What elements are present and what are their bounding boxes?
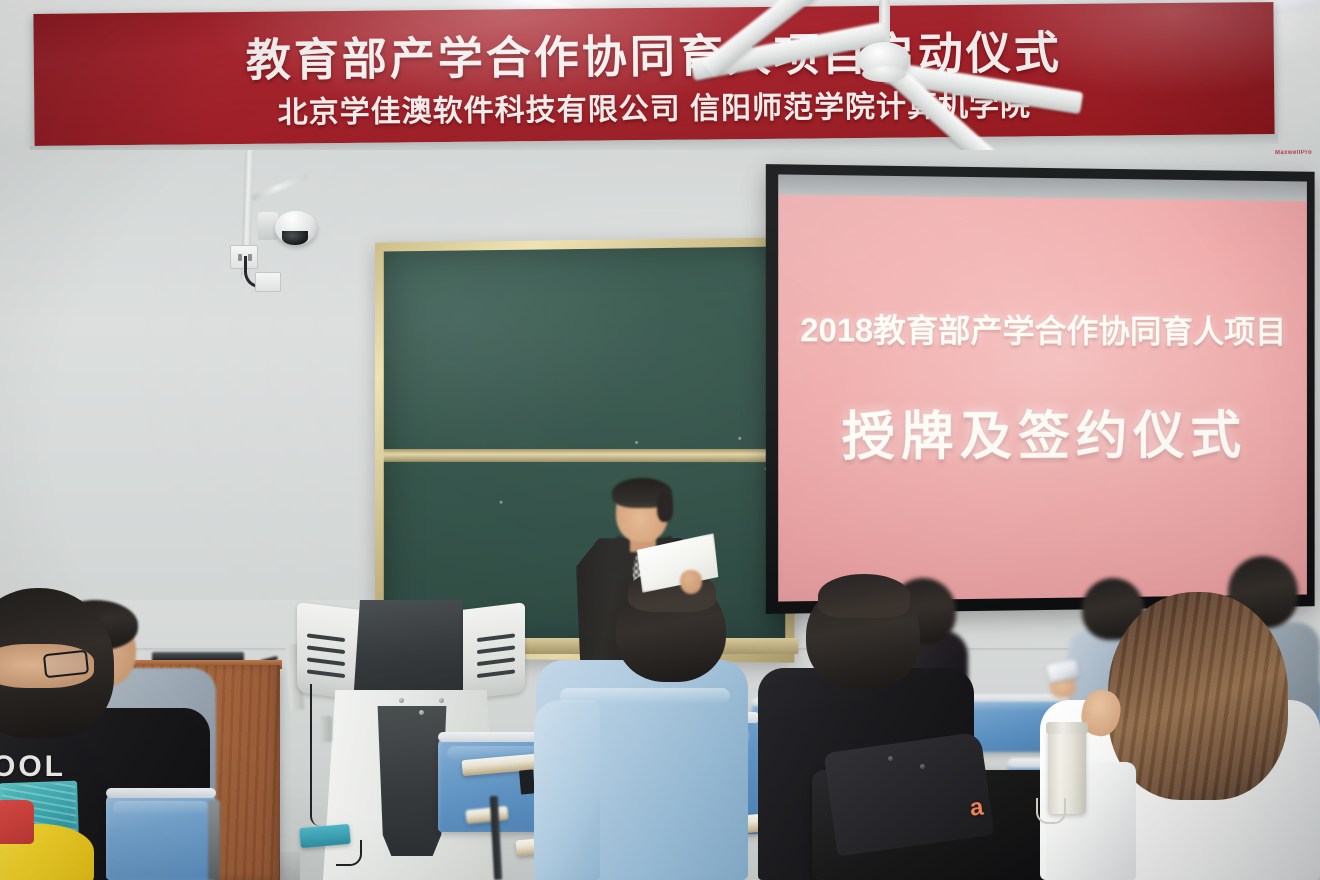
projection-screen: 2018教育部产学合作协同育人项目 授牌及签约仪式 [766, 164, 1315, 614]
seat-foreground-left-edge [106, 788, 216, 798]
wall-switch-icon[interactable] [255, 272, 281, 292]
student-black-jacket-hair-top [818, 574, 910, 618]
student-blue-denim-yoke [560, 688, 730, 704]
photo-scene: 教育部产学合作协同育人项目启动仪式 北京学佳澳软件科技有限公司 信阳师范学院计算… [0, 0, 1320, 880]
student-blue-denim-arm [534, 700, 600, 880]
slide-title-line1: 2018教育部产学合作协同育人项目 [778, 305, 1307, 353]
lectern-power-cord [310, 684, 324, 826]
slide-title-line2: 授牌及签约仪式 [778, 394, 1307, 470]
student-yellow-jacket-collar [0, 800, 34, 844]
speaker-hair-side [657, 492, 673, 522]
screen-brand-text: MaxwellPro [1275, 150, 1312, 156]
blackboard-divider [384, 449, 785, 462]
speaker-hand [680, 570, 702, 594]
lectern-top-panel [353, 600, 469, 704]
thermos-cap [1046, 722, 1088, 734]
fan-hub-lower [862, 66, 906, 82]
ceremony-banner: 教育部产学合作协同育人项目启动仪式 北京学佳澳软件科技有限公司 信阳师范学院计算… [33, 2, 1274, 146]
screen-brand-label: MaxwellPro [1275, 150, 1312, 156]
lectern-left-wing [297, 602, 359, 700]
power-strip-cord [336, 840, 362, 866]
shirt-print-text: OOL [0, 750, 66, 784]
desk-bracket-1 [519, 769, 535, 794]
seat-arm-left [208, 800, 220, 880]
lectern-right-wing [463, 602, 525, 700]
seat-foreground-left[interactable] [106, 792, 216, 880]
projected-slide: 2018教育部产学合作协同育人项目 授牌及签约仪式 [778, 195, 1307, 602]
backpack-logo: a [969, 793, 986, 822]
glasses-icon [43, 650, 89, 678]
camera-lens-icon [282, 231, 308, 245]
thermos-handle [1036, 798, 1066, 824]
